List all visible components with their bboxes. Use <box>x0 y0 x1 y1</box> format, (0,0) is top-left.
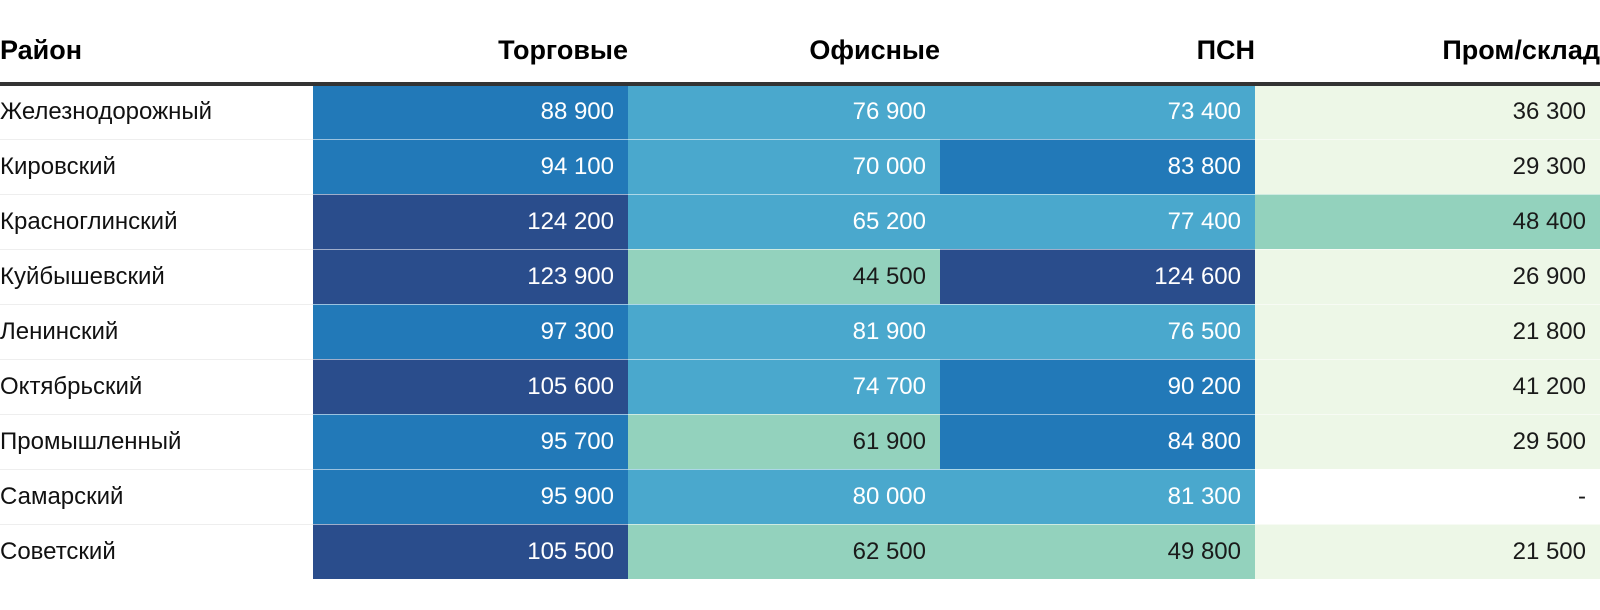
heatmap-cell-office: 61 900 <box>628 414 940 469</box>
heatmap-cell-office: 74 700 <box>628 359 940 414</box>
table-row: Советский105 50062 50049 80021 500 <box>0 524 1600 579</box>
table-row: Ленинский97 30081 90076 50021 800 <box>0 304 1600 359</box>
heatmap-cell-industrial: 48 400 <box>1255 194 1600 249</box>
table-row: Самарский95 90080 00081 300- <box>0 469 1600 524</box>
row-label-district: Октябрьский <box>0 359 313 414</box>
heatmap-cell-office: 44 500 <box>628 249 940 304</box>
heatmap-cell-industrial: - <box>1255 469 1600 524</box>
row-label-district: Железнодорожный <box>0 84 313 139</box>
heatmap-cell-psn: 83 800 <box>940 139 1255 194</box>
column-header-retail[interactable]: Торговые <box>313 0 628 84</box>
heatmap-cell-psn: 81 300 <box>940 469 1255 524</box>
heatmap-cell-industrial: 21 800 <box>1255 304 1600 359</box>
heatmap-cell-industrial: 21 500 <box>1255 524 1600 579</box>
table-row: Промышленный95 70061 90084 80029 500 <box>0 414 1600 469</box>
table-row: Железнодорожный88 90076 90073 40036 300 <box>0 84 1600 139</box>
table-row: Красноглинский124 20065 20077 40048 400 <box>0 194 1600 249</box>
heatmap-cell-office: 70 000 <box>628 139 940 194</box>
heatmap-cell-retail: 105 600 <box>313 359 628 414</box>
column-header-office[interactable]: Офисные <box>628 0 940 84</box>
heatmap-cell-office: 65 200 <box>628 194 940 249</box>
row-label-district: Кировский <box>0 139 313 194</box>
heatmap-cell-office: 76 900 <box>628 84 940 139</box>
heatmap-cell-office: 81 900 <box>628 304 940 359</box>
table-body: Железнодорожный88 90076 90073 40036 300К… <box>0 84 1600 579</box>
row-label-district: Промышленный <box>0 414 313 469</box>
row-label-district: Советский <box>0 524 313 579</box>
heatmap-cell-retail: 123 900 <box>313 249 628 304</box>
heatmap-cell-industrial: 36 300 <box>1255 84 1600 139</box>
row-label-district: Ленинский <box>0 304 313 359</box>
heatmap-cell-industrial: 29 500 <box>1255 414 1600 469</box>
heatmap-cell-psn: 124 600 <box>940 249 1255 304</box>
heatmap-cell-industrial: 41 200 <box>1255 359 1600 414</box>
column-header-district[interactable]: Район <box>0 0 313 84</box>
heatmap-cell-retail: 105 500 <box>313 524 628 579</box>
column-header-psn[interactable]: ПСН <box>940 0 1255 84</box>
heatmap-cell-industrial: 26 900 <box>1255 249 1600 304</box>
heatmap-cell-psn: 90 200 <box>940 359 1255 414</box>
row-label-district: Куйбышевский <box>0 249 313 304</box>
heatmap-cell-retail: 95 900 <box>313 469 628 524</box>
table-row: Кировский94 10070 00083 80029 300 <box>0 139 1600 194</box>
heatmap-cell-office: 62 500 <box>628 524 940 579</box>
heatmap-cell-psn: 76 500 <box>940 304 1255 359</box>
heatmap-cell-retail: 97 300 <box>313 304 628 359</box>
header-row: Район Торговые Офисные ПСН Пром/склад <box>0 0 1600 84</box>
table-row: Октябрьский105 60074 70090 20041 200 <box>0 359 1600 414</box>
heatmap-cell-retail: 94 100 <box>313 139 628 194</box>
heatmap-cell-psn: 77 400 <box>940 194 1255 249</box>
table-header: Район Торговые Офисные ПСН Пром/склад <box>0 0 1600 84</box>
heatmap-cell-psn: 84 800 <box>940 414 1255 469</box>
heatmap-cell-retail: 95 700 <box>313 414 628 469</box>
heatmap-cell-retail: 88 900 <box>313 84 628 139</box>
row-label-district: Самарский <box>0 469 313 524</box>
heatmap-cell-industrial: 29 300 <box>1255 139 1600 194</box>
table-row: Куйбышевский123 90044 500124 60026 900 <box>0 249 1600 304</box>
district-price-heatmap-table: Район Торговые Офисные ПСН Пром/склад Же… <box>0 0 1600 580</box>
heatmap-cell-psn: 49 800 <box>940 524 1255 579</box>
heatmap-cell-office: 80 000 <box>628 469 940 524</box>
heatmap-cell-retail: 124 200 <box>313 194 628 249</box>
row-label-district: Красноглинский <box>0 194 313 249</box>
column-header-industrial[interactable]: Пром/склад <box>1255 0 1600 84</box>
heatmap-cell-psn: 73 400 <box>940 84 1255 139</box>
